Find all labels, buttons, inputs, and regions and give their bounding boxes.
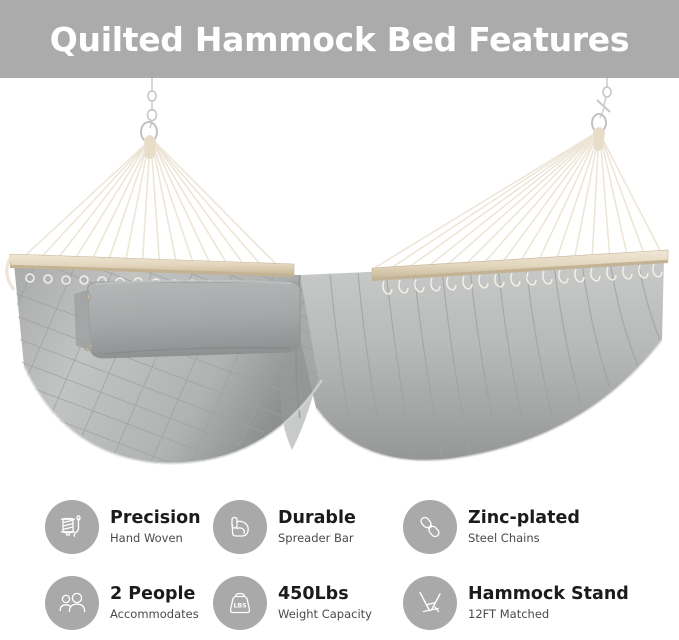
feature-subtitle: Hand Woven — [110, 529, 201, 546]
rope-bundle-left — [144, 135, 156, 159]
weight-lbs-icon: LBS — [213, 576, 267, 630]
feature-text: Hammock Stand 12FT Matched — [457, 584, 629, 622]
hammock-illustration — [0, 78, 679, 483]
rope-fan-left — [16, 142, 286, 274]
feature-text: 450Lbs Weight Capacity — [267, 584, 372, 622]
feature-item-hammock-stand: Hammock Stand 12FT Matched — [395, 566, 679, 640]
feature-title: 2 People — [110, 584, 199, 605]
feature-subtitle: Accommodates — [110, 605, 199, 622]
hanging-chain-right — [592, 78, 611, 132]
flexed-bicep-icon — [213, 500, 267, 554]
feature-title: 450Lbs — [278, 584, 372, 605]
pillow — [74, 281, 300, 358]
product-image — [0, 78, 679, 483]
feature-title: Zinc-plated — [468, 508, 580, 529]
feature-subtitle: Weight Capacity — [278, 605, 372, 622]
feature-grid: Precision Hand Woven Durable Spreader Ba… — [0, 488, 679, 640]
header-banner: Quilted Hammock Bed Features — [0, 0, 679, 78]
feature-item-precision: Precision Hand Woven — [0, 488, 205, 566]
hanging-chain-left — [141, 78, 157, 142]
feature-title: Durable — [278, 508, 356, 529]
feature-text: Zinc-plated Steel Chains — [457, 508, 580, 546]
feature-text: Durable Spreader Bar — [267, 508, 356, 546]
feature-item-450lbs: LBS 450Lbs Weight Capacity — [205, 566, 395, 640]
feature-item-zinc-plated: Zinc-plated Steel Chains — [395, 488, 679, 566]
feature-title: Precision — [110, 508, 201, 529]
feature-text: Precision Hand Woven — [99, 508, 201, 546]
feature-item-durable: Durable Spreader Bar — [205, 488, 395, 566]
thread-spool-needle-icon — [45, 500, 99, 554]
rope-fan-right — [376, 134, 664, 267]
feature-subtitle: Steel Chains — [468, 529, 580, 546]
feature-text: 2 People Accommodates — [99, 584, 199, 622]
feature-title: Hammock Stand — [468, 584, 629, 605]
svg-text:LBS: LBS — [233, 603, 246, 610]
page-title: Quilted Hammock Bed Features — [50, 23, 629, 56]
chain-link-icon — [403, 500, 457, 554]
feature-item-2-people: 2 People Accommodates — [0, 566, 205, 640]
hammock-stand-icon — [403, 576, 457, 630]
feature-subtitle: 12FT Matched — [468, 605, 629, 622]
feature-subtitle: Spreader Bar — [278, 529, 356, 546]
two-people-icon — [45, 576, 99, 630]
